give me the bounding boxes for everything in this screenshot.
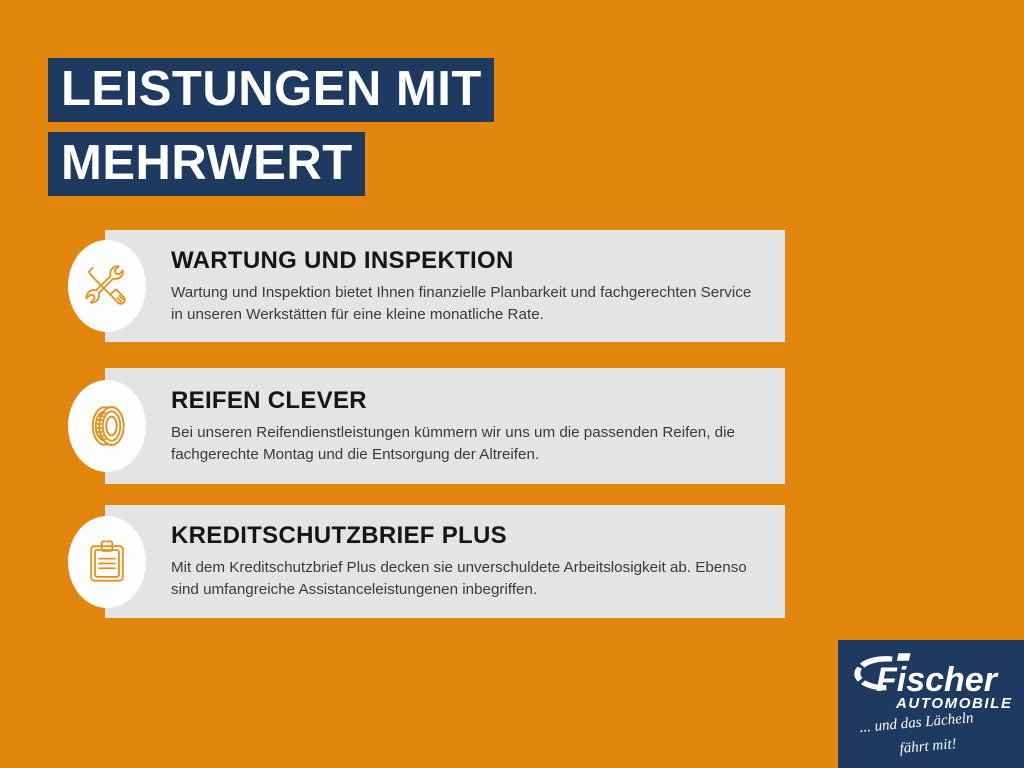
card-body: REIFEN CLEVER Bei unseren Reifendienstle… [171, 368, 763, 484]
poster-canvas: LEISTUNGEN MIT MEHRWERT WARTUNG UND INSP… [0, 0, 1024, 768]
card-description: Wartung und Inspektion bietet Ihnen fina… [171, 282, 763, 326]
logo-tagline-line-2: fährt mit! [899, 736, 957, 757]
logo-tagline-line-1: ... und das Lächeln [859, 712, 974, 736]
logo-tagline: ... und das Lächeln fährt mit! [838, 712, 1014, 764]
card-body: KREDITSCHUTZBRIEF PLUS Mit dem Kreditsch… [171, 505, 763, 618]
card-description: Bei unseren Reifendienstleistungen kümme… [171, 422, 763, 466]
logo-brand-text: Fischer [876, 661, 999, 699]
card-title: WARTUNG UND INSPEKTION [171, 247, 763, 275]
headline-line-1: LEISTUNGEN MIT [48, 58, 494, 122]
card-body: WARTUNG UND INSPEKTION Wartung und Inspe… [171, 230, 763, 342]
clipboard-icon [68, 516, 146, 608]
logo-wordmark: Fischer AUTOMOBILE [846, 650, 1022, 716]
logo-subbrand-text: AUTOMOBILE [895, 695, 1013, 712]
page-title: LEISTUNGEN MIT MEHRWERT [48, 58, 808, 196]
card-description: Mit dem Kreditschutzbrief Plus decken si… [171, 557, 763, 601]
service-card-wartung-und-inspektion: WARTUNG UND INSPEKTION Wartung und Inspe… [105, 230, 785, 342]
card-title: KREDITSCHUTZBRIEF PLUS [171, 522, 763, 550]
wrench-screwdriver-icon [68, 240, 146, 332]
card-title: REIFEN CLEVER [171, 387, 763, 415]
service-card-kreditschutzbrief-plus: KREDITSCHUTZBRIEF PLUS Mit dem Kreditsch… [105, 505, 785, 618]
service-card-reifen-clever: REIFEN CLEVER Bei unseren Reifendienstle… [105, 368, 785, 484]
fischer-automobile-logo: Fischer AUTOMOBILE ... und das Lächeln f… [838, 640, 1024, 768]
tire-icon [68, 380, 146, 472]
headline-line-2: MEHRWERT [48, 132, 365, 196]
